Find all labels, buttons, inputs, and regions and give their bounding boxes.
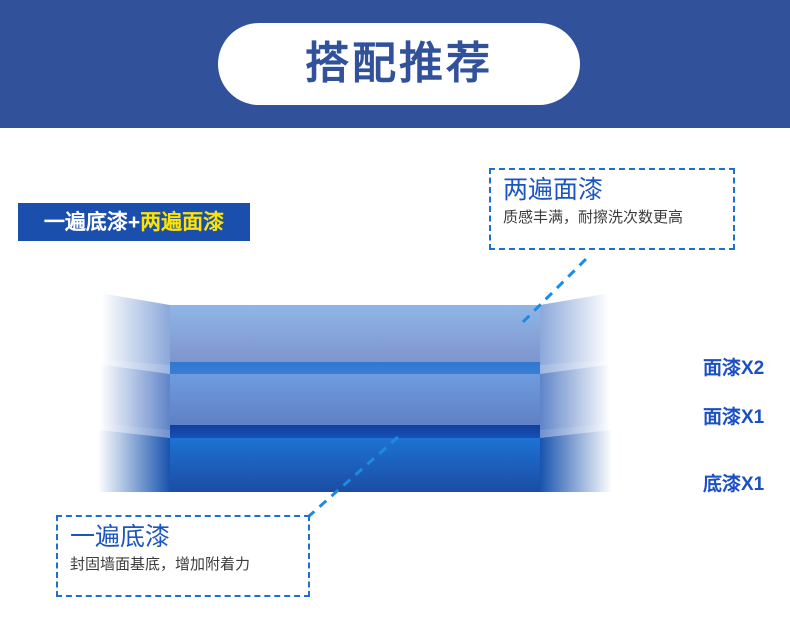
callout-topcoat: 两遍面漆 质感丰满，耐擦洗次数更高 — [489, 168, 735, 250]
layer-topcoat-2-seam — [170, 362, 540, 374]
layer-topcoat-2-back-wall — [170, 305, 540, 365]
layer-topcoat-2-right-panel — [540, 290, 628, 365]
callout-topcoat-title: 两遍面漆 — [503, 176, 721, 205]
page-title: 搭配推荐 — [305, 42, 493, 86]
layer-label-topcoat-2: 面漆X2 — [703, 359, 764, 378]
callout-primer-title: 一遍底漆 — [70, 523, 296, 552]
layer-label-topcoat-1: 面漆X1 — [703, 408, 764, 427]
callout-primer-subtitle: 封固墙面基底，增加附着力 — [70, 555, 296, 575]
layer-primer-1-right-panel — [540, 428, 628, 492]
layer-primer-1-back-wall — [170, 438, 540, 492]
layer-topcoat-1-seam — [170, 425, 540, 438]
layer-label-primer-1: 底漆X1 — [703, 475, 764, 494]
layer-primer-1-left-panel — [82, 428, 170, 492]
page-title-pill: 搭配推荐 — [218, 23, 580, 105]
layer-topcoat-1-back-wall — [170, 374, 540, 430]
callout-primer: 一遍底漆 封固墙面基底，增加附着力 — [56, 515, 310, 597]
callout-topcoat-subtitle: 质感丰满，耐擦洗次数更高 — [503, 208, 721, 228]
header-banner: 搭配推荐 — [0, 0, 790, 128]
layer-topcoat-2 — [82, 288, 628, 374]
